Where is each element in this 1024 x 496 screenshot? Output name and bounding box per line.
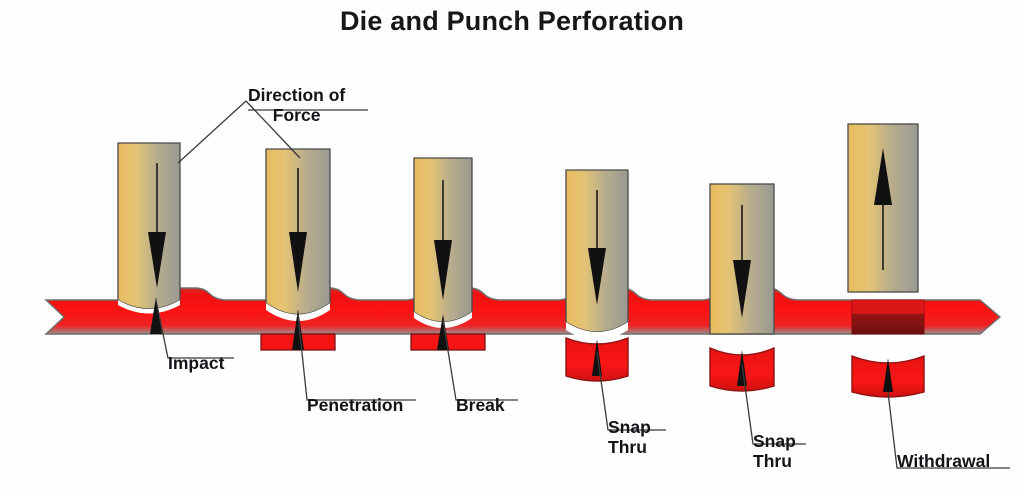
label-snap-thru-1-line2: Thru — [608, 438, 651, 458]
punch-withdrawal — [848, 124, 918, 292]
label-snap-thru-2-line2: Thru — [753, 452, 796, 472]
label-penetration: Penetration — [307, 396, 403, 415]
punched-hole — [852, 300, 924, 334]
label-break: Break — [456, 396, 505, 415]
slug-withdrawal — [852, 356, 924, 397]
punch-break — [414, 158, 472, 328]
label-direction-of-force-line1: Direction of — [248, 86, 345, 106]
punch-snap-thru-1 — [566, 170, 628, 340]
label-direction-of-force-line2: Force — [248, 106, 345, 126]
slug-snap-thru-1 — [566, 338, 628, 381]
label-impact: Impact — [168, 354, 224, 373]
label-direction-of-force: Direction of Force — [248, 86, 345, 125]
label-snap-thru-2: Snap Thru — [753, 432, 796, 471]
diagram-canvas: Die and Punch Perforation — [0, 0, 1024, 496]
punch-snap-thru-2 — [710, 184, 774, 334]
label-withdrawal: Withdrawal — [897, 452, 990, 471]
label-snap-thru-2-line1: Snap — [753, 432, 796, 452]
label-snap-thru-1: Snap Thru — [608, 418, 651, 457]
leader-force-left — [178, 101, 246, 163]
slug-snap-thru-2 — [710, 348, 774, 391]
label-snap-thru-1-line1: Snap — [608, 418, 651, 438]
punch-impact — [118, 143, 180, 314]
perforation-illustration — [0, 0, 1024, 496]
punch-penetration — [266, 149, 330, 321]
